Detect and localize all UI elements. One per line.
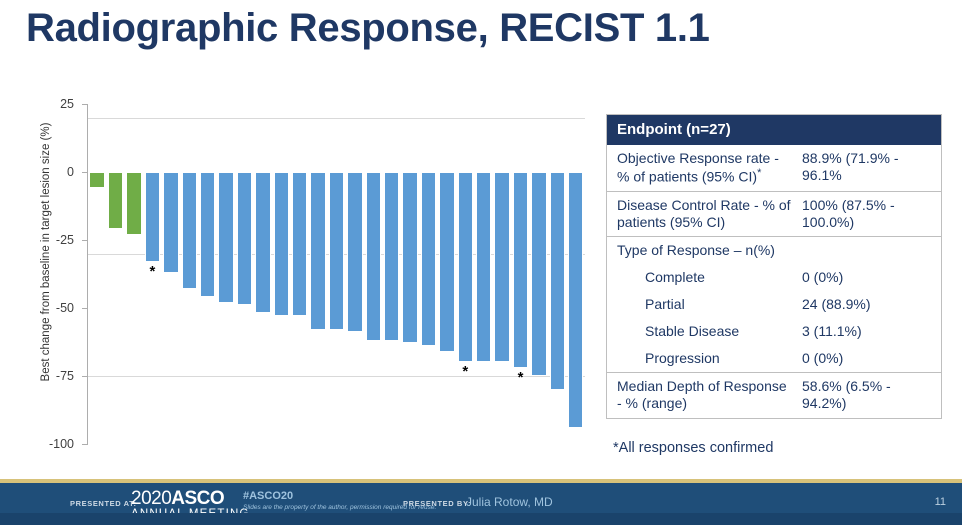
table-row-value: 0 (0%) — [798, 264, 941, 291]
bar-column — [475, 104, 493, 444]
bar-pr — [145, 172, 160, 262]
bar-column — [346, 104, 364, 444]
table-row-label: Median Depth of Response - % (range) — [607, 373, 798, 417]
y-tick-mark — [82, 104, 88, 105]
table-row: Stable Disease3 (11.1%) — [607, 318, 941, 345]
y-tick-mark — [82, 376, 88, 377]
presented-at-label: PRESENTED AT: — [70, 499, 137, 508]
table-footnote: *All responses confirmed — [613, 440, 773, 456]
bar-column — [383, 104, 401, 444]
table-row: Disease Control Rate - % of patients (95… — [607, 191, 941, 236]
y-tick-label: 0 — [30, 165, 74, 179]
bar-pr — [531, 172, 546, 376]
table-row: Progression0 (0%) — [607, 345, 941, 372]
bar-column — [198, 104, 216, 444]
table-row-value: 88.9% (71.9% - 96.1% — [798, 145, 941, 191]
asco-logo-subtitle: ANNUAL MEETING — [131, 509, 250, 521]
bar-pr — [494, 172, 509, 362]
asco-logo-year: 2020 — [131, 488, 171, 509]
presenter-name: Julia Rotow, MD — [466, 495, 553, 509]
table-row: Objective Response rate - % of patients … — [607, 145, 941, 191]
y-tick-label: -25 — [30, 233, 74, 247]
bar-pr — [329, 172, 344, 330]
bar-pr — [182, 172, 197, 289]
y-tick-mark — [82, 240, 88, 241]
bar-column — [217, 104, 235, 444]
y-tick-label: 25 — [30, 97, 74, 111]
bar-column: * — [143, 104, 161, 444]
presented-by-label: PRESENTED BY: — [403, 499, 471, 508]
table-row-value — [798, 237, 941, 264]
table-row-value: 24 (88.9%) — [798, 291, 941, 318]
table-row-value: 100% (87.5% - 100.0%) — [798, 192, 941, 236]
event-hashtag: #ASCO20 — [243, 490, 293, 502]
bar-column — [272, 104, 290, 444]
bar-pr — [255, 172, 270, 313]
bar-column — [493, 104, 511, 444]
table-row-label: Disease Control Rate - % of patients (95… — [607, 192, 798, 236]
y-tick-label: -50 — [30, 301, 74, 315]
bar-column — [309, 104, 327, 444]
bar-sd — [126, 172, 141, 235]
asco-logo-name: ASCO — [171, 488, 224, 509]
bar-pr — [292, 172, 307, 316]
table-row-label: Complete — [607, 264, 798, 291]
bar-pr — [421, 172, 436, 346]
bar-column — [567, 104, 585, 444]
bar-column — [106, 104, 124, 444]
bar-pr — [513, 172, 528, 368]
bar-pr — [550, 172, 565, 390]
bar-pr — [384, 172, 399, 341]
bar-column: * — [511, 104, 529, 444]
bar-asterisk-icon: * — [462, 364, 468, 379]
bar-pr — [568, 172, 583, 428]
table-row-value: 3 (11.1%) — [798, 318, 941, 345]
table-row: Type of Response – n(%) — [607, 236, 941, 264]
table-row: Complete0 (0%) — [607, 264, 941, 291]
slide-footer: PRESENTED AT: 2020ASCO ANNUAL MEETING #A… — [0, 483, 962, 525]
table-row: Median Depth of Response - % (range)58.6… — [607, 372, 941, 417]
bar-column — [254, 104, 272, 444]
bar-column — [548, 104, 566, 444]
slide: Radiographic Response, RECIST 1.1 Best c… — [0, 0, 962, 525]
bar-pr — [476, 172, 491, 362]
y-axis-tick-labels: 250-25-50-75-100 — [38, 96, 82, 452]
bar-column — [530, 104, 548, 444]
bar-column — [125, 104, 143, 444]
bar-column — [438, 104, 456, 444]
table-row-value: 0 (0%) — [798, 345, 941, 372]
table-row-value: 58.6% (6.5% - 94.2%) — [798, 373, 941, 417]
y-tick-label: -100 — [30, 437, 74, 451]
y-tick-mark — [82, 444, 88, 445]
bar-series: *** — [88, 104, 585, 444]
bar-asterisk-icon: * — [150, 264, 156, 279]
bar-pr — [439, 172, 454, 352]
y-tick-mark — [82, 308, 88, 309]
bar-pr — [218, 172, 233, 303]
bar-asterisk-icon: * — [518, 370, 524, 385]
bar-column — [162, 104, 180, 444]
bar-column — [88, 104, 106, 444]
bar-pr — [274, 172, 289, 316]
bar-column — [290, 104, 308, 444]
plot-area: *** — [88, 104, 585, 444]
bar-column — [235, 104, 253, 444]
endpoint-table: Endpoint (n=27) Objective Response rate … — [606, 114, 942, 419]
bar-pr — [458, 172, 473, 362]
bar-pr — [402, 172, 417, 343]
bar-column — [327, 104, 345, 444]
y-tick-label: -75 — [30, 369, 74, 383]
table-row-label: Type of Response – n(%) — [607, 237, 798, 264]
bar-pr — [163, 172, 178, 273]
bar-column — [419, 104, 437, 444]
table-header: Endpoint (n=27) — [607, 115, 941, 145]
page-title: Radiographic Response, RECIST 1.1 — [26, 6, 710, 51]
bar-pr — [366, 172, 381, 341]
table-row-label: Stable Disease — [607, 318, 798, 345]
bar-sd — [108, 172, 123, 229]
bar-pr — [310, 172, 325, 330]
bar-column — [180, 104, 198, 444]
table-row-label: Progression — [607, 345, 798, 372]
page-number: 11 — [935, 496, 946, 508]
table-row-label: Partial — [607, 291, 798, 318]
table-row-label: Objective Response rate - % of patients … — [607, 145, 798, 191]
table-body: Objective Response rate - % of patients … — [607, 145, 941, 418]
table-row: Partial24 (88.9%) — [607, 291, 941, 318]
bar-column: * — [456, 104, 474, 444]
asco-logo: 2020ASCO ANNUAL MEETING — [131, 489, 250, 521]
bar-pr — [237, 172, 252, 305]
bar-sd — [89, 172, 104, 188]
bar-column — [401, 104, 419, 444]
asterisk-icon: * — [757, 167, 761, 179]
y-tick-mark — [82, 172, 88, 173]
bar-column — [364, 104, 382, 444]
bar-pr — [200, 172, 215, 297]
bar-pr — [347, 172, 362, 332]
waterfall-chart: Best change from baseline in target lesi… — [18, 96, 588, 452]
